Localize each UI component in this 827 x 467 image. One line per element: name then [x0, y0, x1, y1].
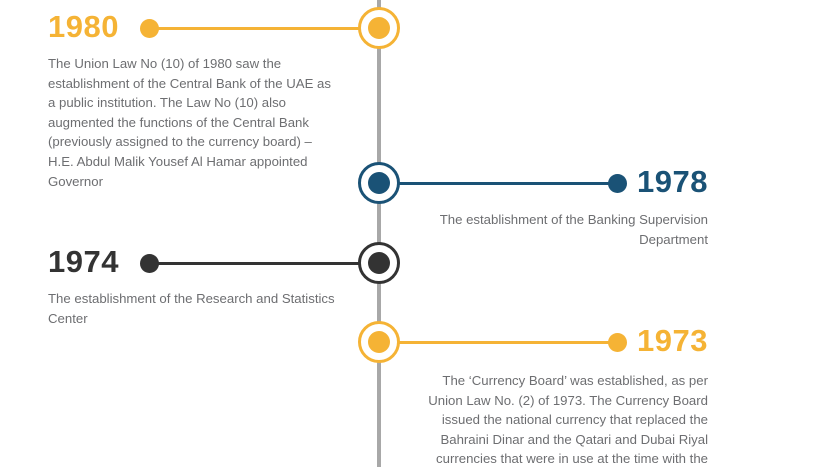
timeline-marker-1973[interactable] — [358, 321, 400, 363]
connector-end-dot-1980 — [140, 19, 159, 38]
event-description-1974: The establishment of the Research and St… — [48, 289, 336, 328]
timeline-spine — [377, 0, 381, 467]
timeline-marker-1974[interactable] — [358, 242, 400, 284]
timeline-marker-1980[interactable] — [358, 7, 400, 49]
event-year-1974: 1974 — [48, 246, 119, 277]
event-description-1980: The Union Law No (10) of 1980 saw the es… — [48, 54, 336, 191]
connector-end-dot-1974 — [140, 254, 159, 273]
connector-end-dot-1973 — [608, 333, 627, 352]
timeline-marker-core-1974 — [368, 252, 390, 274]
event-year-1978: 1978 — [637, 166, 708, 197]
connector-end-dot-1978 — [608, 174, 627, 193]
event-description-1973: The ‘Currency Board’ was established, as… — [420, 371, 708, 467]
event-year-1973: 1973 — [637, 325, 708, 356]
timeline-marker-core-1978 — [368, 172, 390, 194]
timeline-marker-core-1973 — [368, 331, 390, 353]
event-year-1980: 1980 — [48, 11, 119, 42]
connector-line-1974 — [148, 262, 379, 265]
timeline-marker-1978[interactable] — [358, 162, 400, 204]
timeline-infographic: 1980 The Union Law No (10) of 1980 saw t… — [0, 0, 827, 467]
connector-line-1973 — [379, 341, 618, 344]
connector-line-1978 — [379, 182, 618, 185]
event-description-1978: The establishment of the Banking Supervi… — [420, 210, 708, 249]
timeline-marker-core-1980 — [368, 17, 390, 39]
connector-line-1980 — [148, 27, 379, 30]
